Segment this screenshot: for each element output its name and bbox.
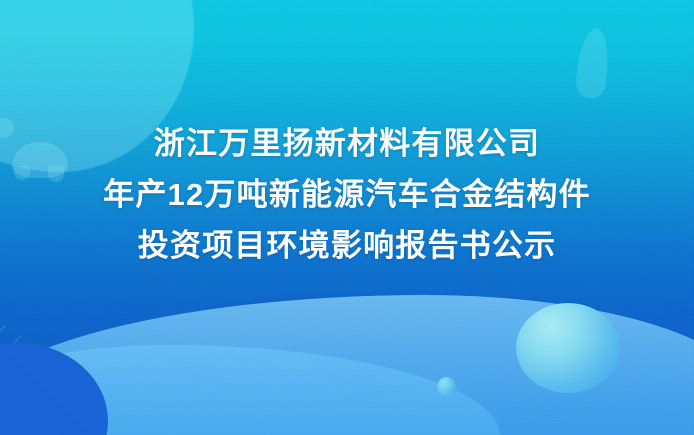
blob-bottomleft-decoration (0, 343, 108, 435)
title-line-document: 投资项目环境影响报告书公示 (0, 220, 694, 271)
title-line-project: 年产12万吨新能源汽车合金结构件 (0, 169, 694, 220)
mid-shadow-wave-decoration (210, 300, 470, 342)
teardrop-decoration (574, 27, 611, 100)
announcement-banner: 浙江万里扬新材料有限公司 年产12万吨新能源汽车合金结构件 投资项目环境影响报告… (0, 0, 694, 435)
bubble-small-right-decoration (437, 377, 456, 397)
wave-light-secondary-decoration (0, 345, 500, 435)
wave-light-decoration (0, 295, 694, 435)
egg-right-decoration (516, 303, 620, 393)
title-line-company: 浙江万里扬新材料有限公司 (0, 118, 694, 169)
banner-title: 浙江万里扬新材料有限公司 年产12万吨新能源汽车合金结构件 投资项目环境影响报告… (0, 118, 694, 271)
